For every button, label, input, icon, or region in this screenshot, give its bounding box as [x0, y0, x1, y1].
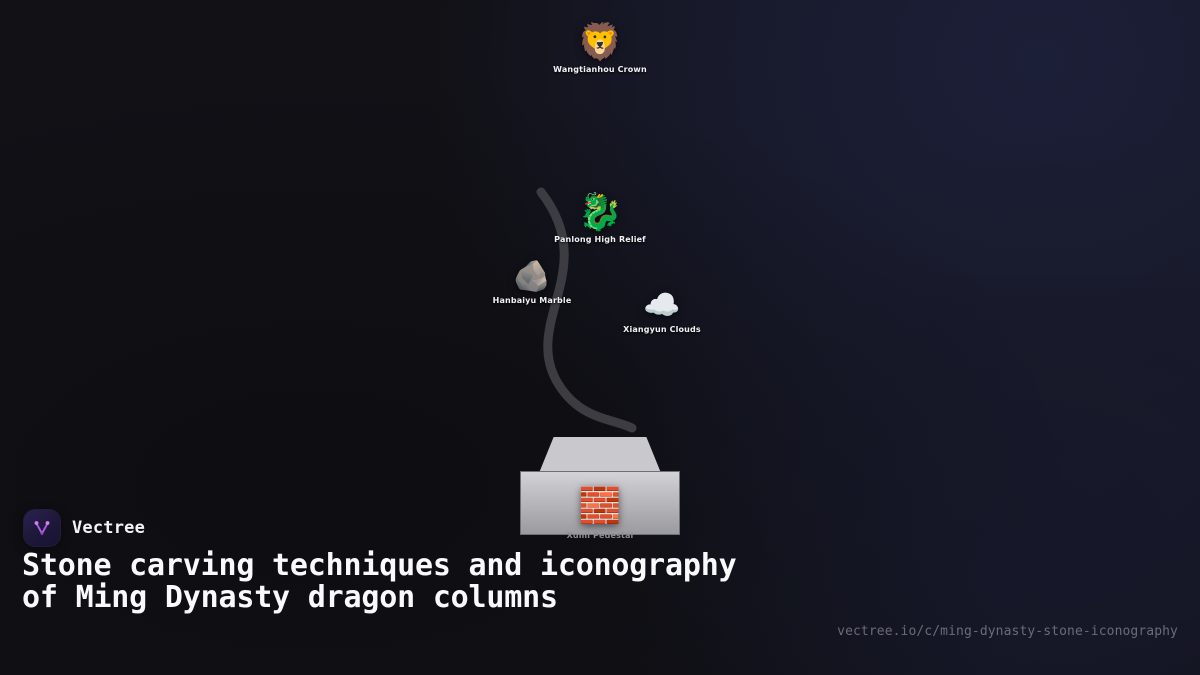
rock-emoji: 🪨 — [513, 262, 550, 292]
brand-lockup[interactable]: Vectree — [24, 510, 145, 546]
graph-node-label: Xiangyun Clouds — [623, 325, 701, 334]
page-title: Stone carving techniques and iconography… — [22, 550, 782, 614]
graph-node-clouds[interactable]: ☁️ Xiangyun Clouds — [562, 291, 762, 334]
v-node-glyph — [31, 517, 53, 539]
pedestal-shape: 🧱 Xumi Pedestal — [520, 437, 680, 535]
pedestal-top-slab — [539, 437, 661, 473]
cloud-emoji: ☁️ — [643, 291, 680, 321]
graph-node-crown[interactable]: 🦁 Wangtianhou Crown — [500, 25, 700, 74]
graph-node-relief[interactable]: 🐉 Panlong High Relief — [500, 195, 700, 244]
vectree-logo-icon — [24, 510, 60, 546]
graph-node-label: Hanbaiyu Marble — [493, 296, 572, 305]
graph-node-label: Xumi Pedestal — [520, 531, 680, 540]
dragon-emoji: 🐉 — [578, 195, 623, 231]
share-card-canvas: 🦁 Wangtianhou Crown 🐉 Panlong High Relie… — [0, 0, 1200, 675]
graph-node-label: Wangtianhou Crown — [553, 65, 647, 74]
graph-node-label: Panlong High Relief — [554, 235, 646, 244]
lion-emoji: 🦁 — [578, 25, 623, 61]
brand-name: Vectree — [72, 518, 145, 538]
brick-emoji: 🧱 — [520, 489, 680, 523]
share-url: vectree.io/c/ming-dynasty-stone-iconogra… — [837, 624, 1178, 639]
graph-node-pedestal[interactable]: 🧱 Xumi Pedestal — [500, 437, 700, 535]
